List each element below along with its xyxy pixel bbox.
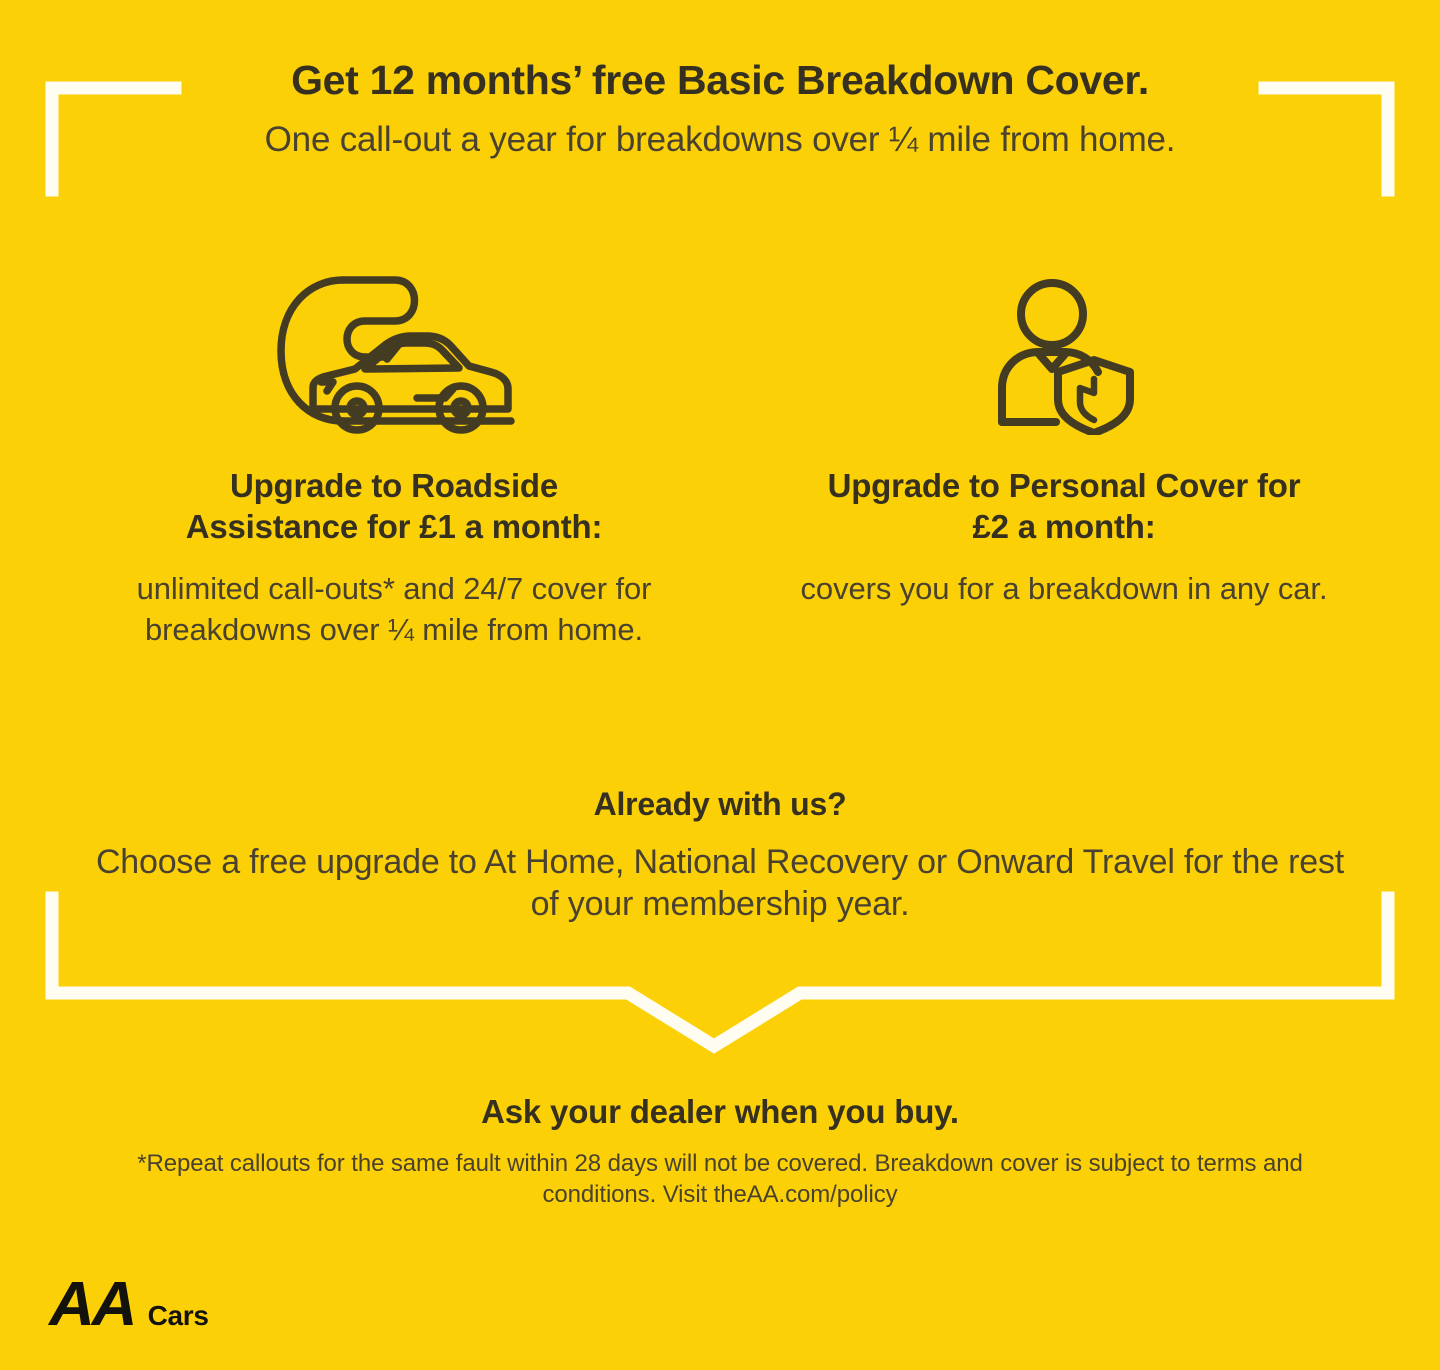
disclaimer-text: *Repeat callouts for the same fault with… bbox=[105, 1149, 1335, 1210]
aa-logo-mark: AA bbox=[49, 1280, 134, 1330]
footer-section: Ask your dealer when you buy. *Repeat ca… bbox=[0, 1093, 1440, 1210]
upgrade-title-roadside: Upgrade to Roadside Assistance for £1 a … bbox=[144, 466, 644, 548]
header: Get 12 months’ free Basic Breakdown Cove… bbox=[0, 58, 1440, 160]
aa-cars-logo: AA Cars bbox=[50, 1280, 209, 1332]
upgrade-columns: Upgrade to Roadside Assistance for £1 a … bbox=[0, 262, 1440, 650]
poster-root: Get 12 months’ free Basic Breakdown Cove… bbox=[0, 0, 1440, 1370]
upgrade-title-personal: Upgrade to Personal Cover for £2 a month… bbox=[814, 466, 1314, 548]
upgrade-column-personal: Upgrade to Personal Cover for £2 a month… bbox=[714, 262, 1384, 609]
upgrade-body-personal: covers you for a breakdown in any car. bbox=[784, 568, 1344, 609]
aa-logo-wordmark: Cars bbox=[148, 1300, 209, 1332]
upgrade-body-roadside: unlimited call-outs* and 24/7 cover for … bbox=[104, 568, 684, 650]
call-to-action-text: Ask your dealer when you buy. bbox=[0, 1093, 1440, 1131]
already-member-section: Already with us? Choose a free upgrade t… bbox=[0, 786, 1440, 925]
page-title: Get 12 months’ free Basic Breakdown Cove… bbox=[0, 58, 1440, 104]
page-subtitle: One call-out a year for breakdowns over … bbox=[0, 120, 1440, 160]
car-on-winding-road-icon bbox=[74, 262, 714, 448]
already-member-title: Already with us? bbox=[0, 786, 1440, 823]
person-with-shield-icon bbox=[744, 262, 1384, 448]
upgrade-column-roadside: Upgrade to Roadside Assistance for £1 a … bbox=[56, 262, 714, 650]
already-member-body: Choose a free upgrade to At Home, Nation… bbox=[85, 841, 1355, 925]
